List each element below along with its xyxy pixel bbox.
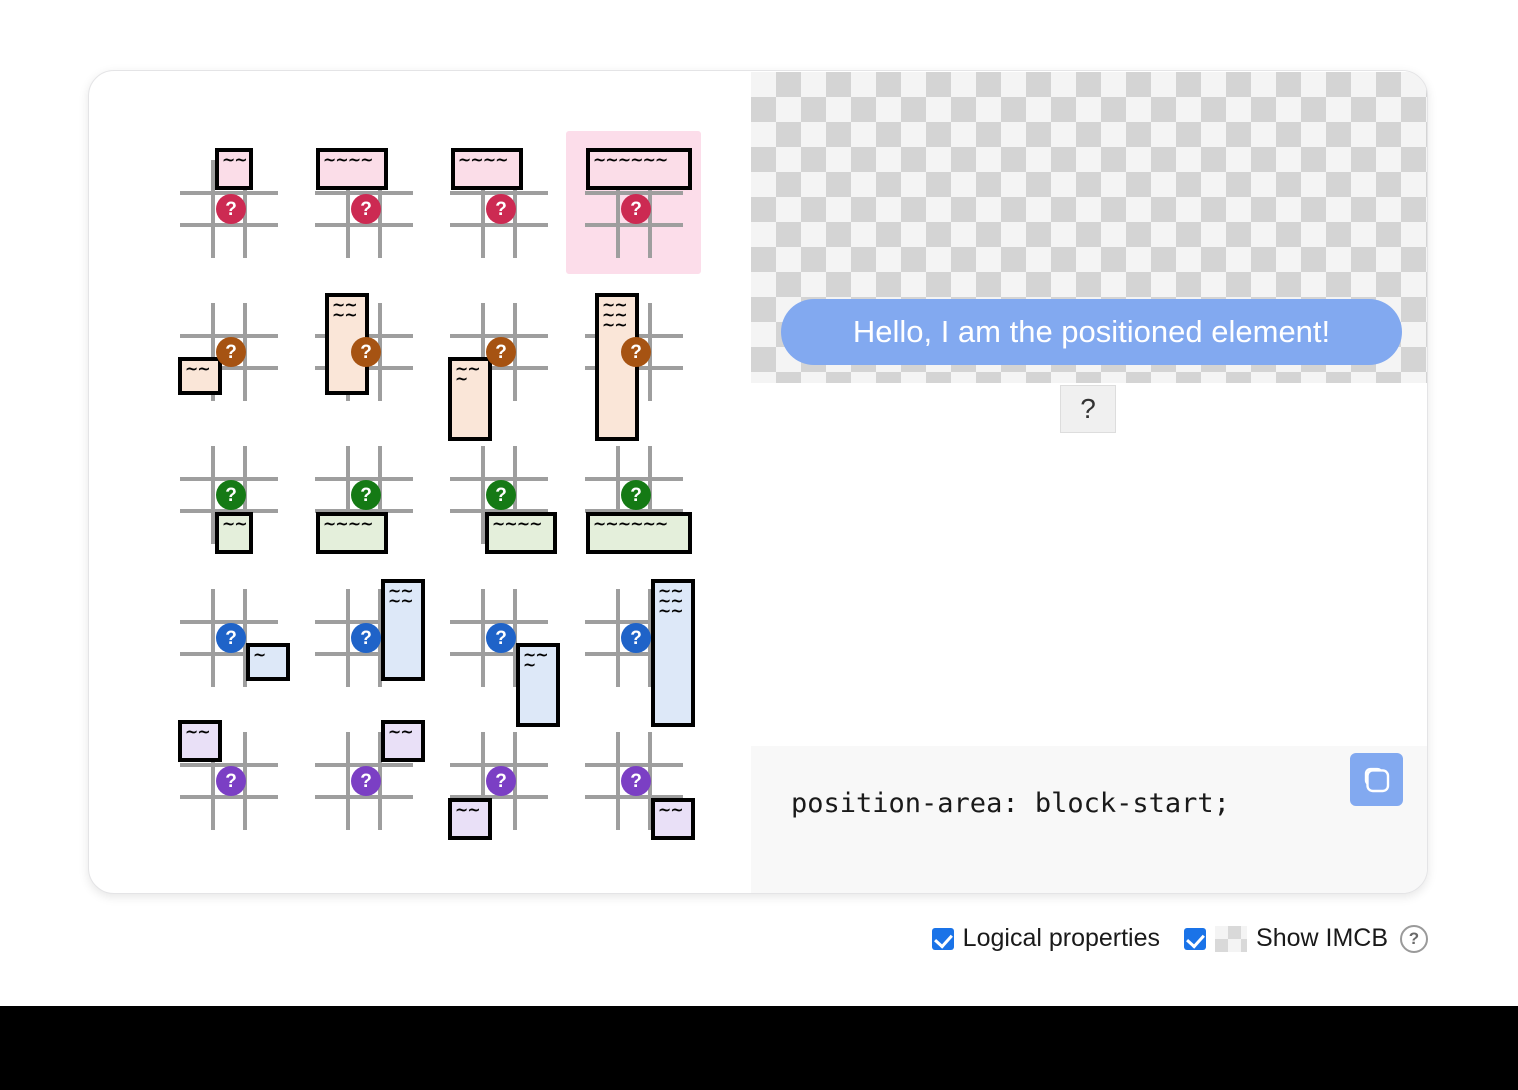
option-positioned-box: ∼∼∼∼	[316, 148, 388, 190]
position-area-option[interactable]: ∼∼?	[296, 703, 431, 846]
anchor-badge: ?	[351, 623, 381, 653]
copy-button[interactable]	[1350, 753, 1403, 806]
position-area-option[interactable]: ∼∼?	[161, 274, 296, 417]
copy-icon	[1362, 765, 1392, 795]
option-positioned-box: ∼∼∼∼∼∼	[586, 512, 692, 554]
anchor-badge: ?	[216, 766, 246, 796]
show-imcb-checkbox[interactable]	[1184, 928, 1206, 950]
position-area-option-grid: ∼∼?∼∼∼∼?∼∼∼∼?∼∼∼∼∼∼?∼∼?∼∼∼∼?∼∼∼?∼∼∼∼∼∼?∼…	[161, 131, 701, 846]
position-area-option[interactable]: ∼∼∼∼∼∼?	[566, 274, 701, 417]
bottom-bar	[0, 1006, 1518, 1090]
option-positioned-box: ∼∼	[178, 357, 222, 395]
anchor-badge: ?	[621, 623, 651, 653]
positioned-element: Hello, I am the positioned element!	[781, 299, 1402, 365]
anchor-badge: ?	[621, 337, 651, 367]
css-declaration-text: position-area: block-start;	[791, 788, 1230, 819]
position-area-visualizer-card: ∼∼?∼∼∼∼?∼∼∼∼?∼∼∼∼∼∼?∼∼?∼∼∼∼?∼∼∼?∼∼∼∼∼∼?∼…	[88, 70, 1428, 894]
position-area-option[interactable]: ∼∼?	[161, 703, 296, 846]
anchor-element-marker: ?	[1060, 385, 1116, 433]
position-area-option[interactable]: ∼∼∼∼∼∼?	[566, 560, 701, 703]
anchor-badge: ?	[351, 194, 381, 224]
logical-properties-checkbox[interactable]	[932, 928, 954, 950]
anchor-badge: ?	[486, 766, 516, 796]
option-positioned-box: ∼∼	[178, 720, 222, 762]
anchor-badge: ?	[216, 194, 246, 224]
option-positioned-box: ∼∼	[215, 512, 253, 554]
option-positioned-box: ∼∼∼∼∼∼	[586, 148, 692, 190]
code-block: position-area: block-start;	[751, 746, 1428, 894]
anchor-badge: ?	[351, 337, 381, 367]
anchor-badge: ?	[486, 480, 516, 510]
visualizer-controls: Logical properties Show IMCB ?	[0, 924, 1428, 953]
position-area-option[interactable]: ∼∼∼?	[431, 560, 566, 703]
anchor-badge: ?	[216, 480, 246, 510]
anchor-badge: ?	[486, 623, 516, 653]
anchor-badge: ?	[351, 480, 381, 510]
anchor-badge: ?	[216, 623, 246, 653]
anchor-badge: ?	[351, 766, 381, 796]
option-positioned-box: ∼∼∼∼	[451, 148, 523, 190]
anchor-badge: ?	[486, 337, 516, 367]
position-area-option[interactable]: ∼∼?	[161, 417, 296, 560]
position-area-option[interactable]: ∼∼∼∼?	[296, 131, 431, 274]
position-area-option[interactable]: ∼∼∼∼∼∼?	[566, 131, 701, 274]
show-imcb-control[interactable]: Show IMCB	[1184, 924, 1388, 953]
position-area-option[interactable]: ∼∼?	[161, 131, 296, 274]
option-positioned-box: ∼∼∼∼	[485, 512, 557, 554]
anchor-badge: ?	[621, 480, 651, 510]
option-positioned-box: ∼∼	[448, 798, 492, 840]
position-area-option[interactable]: ∼∼∼∼?	[296, 560, 431, 703]
logical-properties-label: Logical properties	[963, 924, 1160, 953]
option-positioned-box: ∼∼∼∼	[381, 579, 425, 681]
show-imcb-label: Show IMCB	[1256, 924, 1388, 953]
option-positioned-box: ∼∼	[215, 148, 253, 190]
preview-panel: Hello, I am the positioned element! posi…	[751, 71, 1427, 893]
option-positioned-box: ∼∼	[381, 720, 425, 762]
option-positioned-box: ∼∼∼	[516, 643, 560, 727]
option-positioned-box: ∼∼∼∼∼∼	[651, 579, 695, 727]
anchor-badge: ?	[621, 194, 651, 224]
position-area-option[interactable]: ∼∼∼∼?	[296, 274, 431, 417]
help-icon[interactable]: ?	[1400, 925, 1428, 953]
position-area-option[interactable]: ∼?	[161, 560, 296, 703]
option-positioned-box: ∼∼	[651, 798, 695, 840]
position-area-option[interactable]: ∼∼∼∼?	[431, 131, 566, 274]
anchor-badge: ?	[486, 194, 516, 224]
position-area-option[interactable]: ∼∼∼?	[431, 274, 566, 417]
anchor-badge: ?	[216, 337, 246, 367]
option-positioned-box: ∼∼∼∼	[316, 512, 388, 554]
checkerboard-swatch-icon	[1215, 926, 1247, 952]
position-area-diagram-panel: ∼∼?∼∼∼∼?∼∼∼∼?∼∼∼∼∼∼?∼∼?∼∼∼∼?∼∼∼?∼∼∼∼∼∼?∼…	[89, 71, 751, 893]
option-positioned-box: ∼∼∼∼∼∼	[595, 293, 639, 441]
logical-properties-control[interactable]: Logical properties	[932, 924, 1160, 953]
option-positioned-box: ∼	[246, 643, 290, 681]
option-positioned-box: ∼∼∼	[448, 357, 492, 441]
anchor-badge: ?	[621, 766, 651, 796]
position-area-option[interactable]: ∼∼∼∼?	[296, 417, 431, 560]
